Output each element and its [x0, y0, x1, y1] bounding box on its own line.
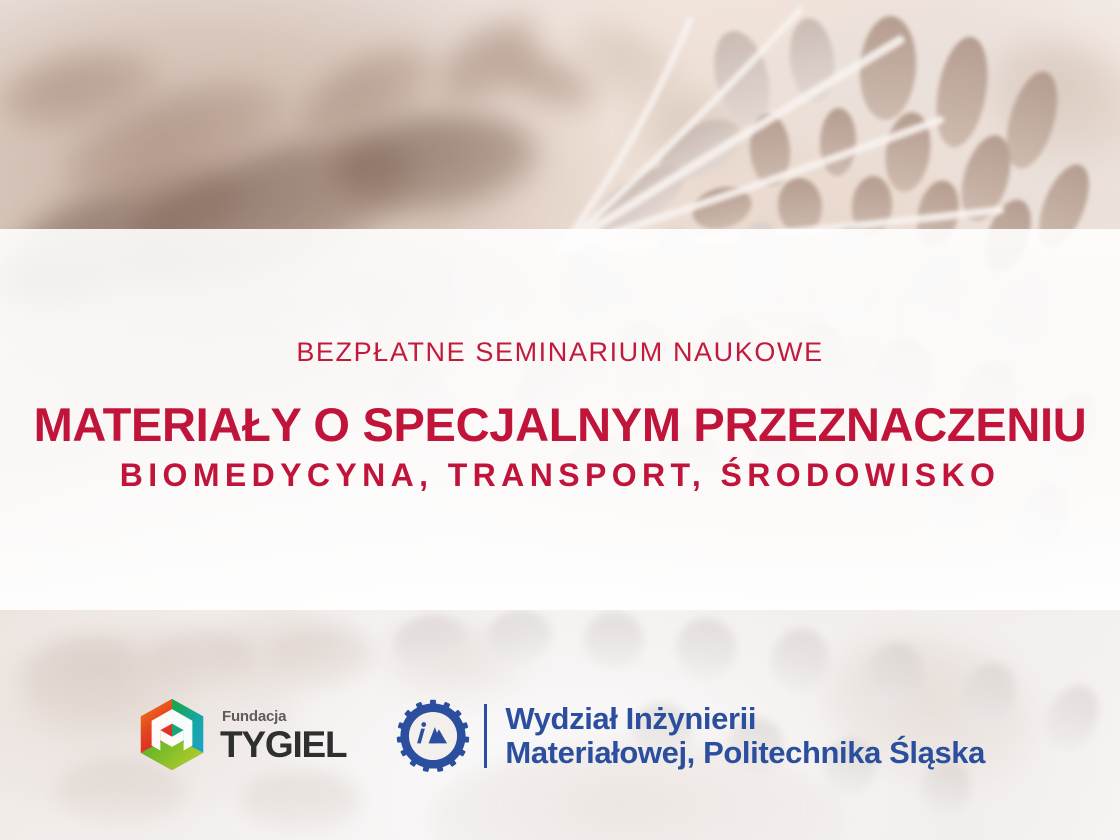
tygiel-cube-icon	[135, 696, 209, 776]
faculty-logo[interactable]: Wydział Inżynierii Materiałowej, Politec…	[396, 699, 985, 773]
gear-im-icon	[396, 699, 470, 773]
faculty-name-line-1: Wydział Inżynierii	[505, 702, 985, 736]
page-title: MATERIAŁY O SPECJALNYM PRZEZNACZENIU	[34, 400, 1087, 449]
footer-logos: Fundacja TYGIEL	[0, 676, 1120, 796]
tygiel-wordmark: Fundacja TYGIEL	[220, 709, 346, 763]
tygiel-foundation-label: Fundacja	[222, 709, 346, 724]
tygiel-name-label: TYGIEL	[220, 726, 346, 763]
faculty-divider	[484, 704, 487, 768]
event-kicker: BEZPŁATNE SEMINARIUM NAUKOWE	[296, 339, 823, 366]
faculty-name-line-2: Materiałowej, Politechnika Śląska	[505, 736, 985, 770]
faculty-wordmark: Wydział Inżynierii Materiałowej, Politec…	[505, 702, 985, 770]
tygiel-logo[interactable]: Fundacja TYGIEL	[135, 696, 346, 776]
headline-block: BEZPŁATNE SEMINARIUM NAUKOWE MATERIAŁY O…	[0, 229, 1120, 610]
poster-canvas: BEZPŁATNE SEMINARIUM NAUKOWE MATERIAŁY O…	[0, 0, 1120, 840]
page-subtitle: BIOMEDYCYNA, TRANSPORT, ŚRODOWISKO	[120, 458, 1001, 493]
